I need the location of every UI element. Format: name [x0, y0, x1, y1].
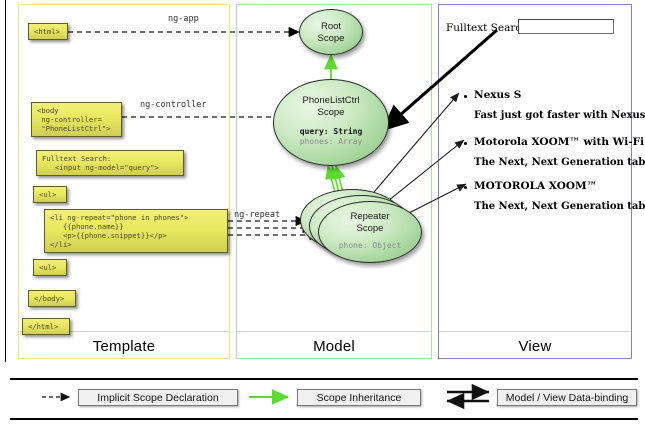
- view-item-snippet: The Next, Next Generation tablet.: [474, 157, 645, 168]
- legend-glyph-double: [447, 392, 489, 401]
- edge-label-ng-app: ng-app: [168, 14, 199, 24]
- legend-scope-inheritance: Scope Inheritance: [297, 389, 421, 406]
- legend-model-view-data-binding: Model / View Data-binding: [497, 389, 637, 406]
- legend-implicit-scope-declaration: Implicit Scope Declaration: [78, 389, 238, 406]
- view-item-title: Nexus S: [474, 89, 521, 101]
- phonelistctrl-scope[interactable]: PhoneListCtrl Scope query: String phones…: [273, 79, 389, 166]
- body-close-tag-box[interactable]: </body>: [28, 290, 76, 307]
- phonelistctrl-scope-title-line2: Scope: [318, 107, 345, 118]
- view-item-snippet: Fast just got faster with Nexus S.: [474, 110, 645, 121]
- body-tag-box[interactable]: <body ng-controller= "PhoneListCtrl">: [31, 102, 122, 137]
- root-scope-title-line1: Root: [321, 21, 341, 32]
- html-close-tag-box[interactable]: </html>: [22, 318, 70, 335]
- view-item-title: MOTOROLA XOOM™: [474, 180, 597, 192]
- phonelistctrl-scope-title-line1: PhoneListCtrl: [302, 95, 359, 106]
- view-item-title: Motorola XOOM™ with Wi-Fi: [474, 136, 644, 148]
- repeater-scope-title-line2: Scope: [357, 223, 384, 234]
- edge-label-ng-controller: ng-controller: [140, 100, 207, 110]
- root-scope[interactable]: Root Scope: [299, 9, 363, 55]
- phonelistctrl-scope-prop-query: query: String: [274, 127, 388, 137]
- li-ng-repeat-box[interactable]: <li ng-repeat="phone in phones"> {{phone…: [44, 209, 228, 253]
- repeater-scope-title-line1: Repeater: [350, 211, 389, 222]
- repeater-scope[interactable]: Repeater Scope phone: Object: [318, 201, 422, 263]
- html-open-tag-box[interactable]: <html>: [28, 23, 68, 40]
- fulltext-search-box[interactable]: Fulltext Search: <input ng-model="query"…: [36, 150, 184, 176]
- ul-open-tag-box[interactable]: <ul>: [33, 186, 67, 203]
- ul-close-tag-box[interactable]: <ul>: [33, 259, 67, 276]
- repeater-scope-prop-phone: phone: Object: [319, 241, 421, 251]
- root-scope-title-line2: Scope: [318, 33, 345, 44]
- phonelistctrl-scope-prop-phones: phones: Array: [274, 137, 388, 147]
- diagram-canvas: Template Model View: [0, 0, 645, 425]
- view-search-input[interactable]: [518, 19, 614, 34]
- edge-label-ng-repeat: ng-repeat: [234, 210, 280, 220]
- view-item-snippet: The Next, Next Generation tablet.: [474, 201, 645, 212]
